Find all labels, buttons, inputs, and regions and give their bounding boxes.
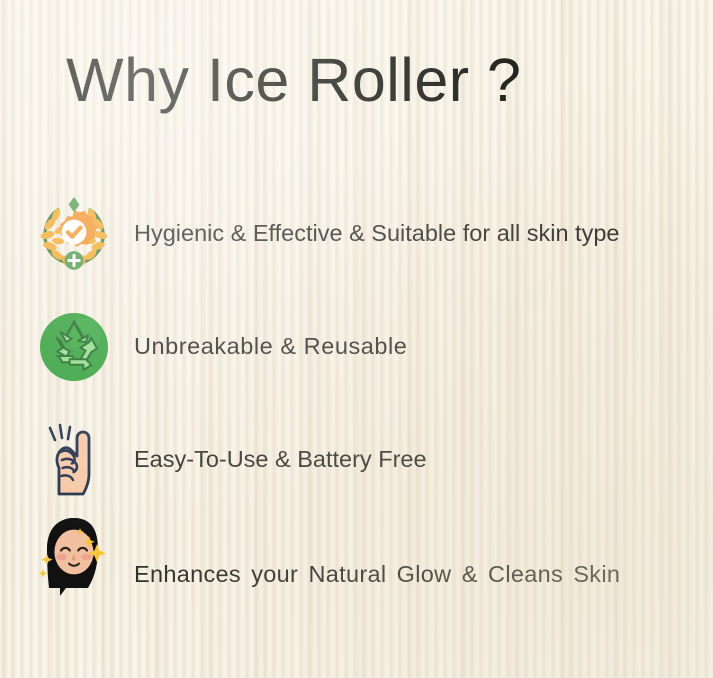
feature-list: Hygienic & Effective & Suitable for all …: [0, 178, 713, 632]
smiling-woman-face-icon: [36, 520, 112, 596]
list-item: Hygienic & Effective & Suitable for all …: [0, 178, 713, 290]
list-item: Unbreakable & Reusable: [0, 290, 713, 404]
promo-card: Why Ice Roller ?: [0, 0, 713, 678]
list-item: Easy-To-Use & Battery Free: [0, 404, 713, 516]
list-item-label: Enhances your Natural Glow & Cleans Skin: [134, 558, 620, 591]
snapping-fingers-hand-icon: [36, 422, 112, 498]
recycle-symbol-icon: [36, 309, 112, 385]
list-item-label: Unbreakable & Reusable: [134, 330, 407, 363]
quality-badge-laurel-check-icon: [36, 196, 112, 272]
list-item-label: Easy-To-Use & Battery Free: [134, 443, 427, 476]
list-item-label: Hygienic & Effective & Suitable for all …: [134, 217, 619, 250]
page-title: Why Ice Roller ?: [66, 48, 521, 114]
list-item: Enhances your Natural Glow & Cleans Skin: [0, 516, 713, 632]
